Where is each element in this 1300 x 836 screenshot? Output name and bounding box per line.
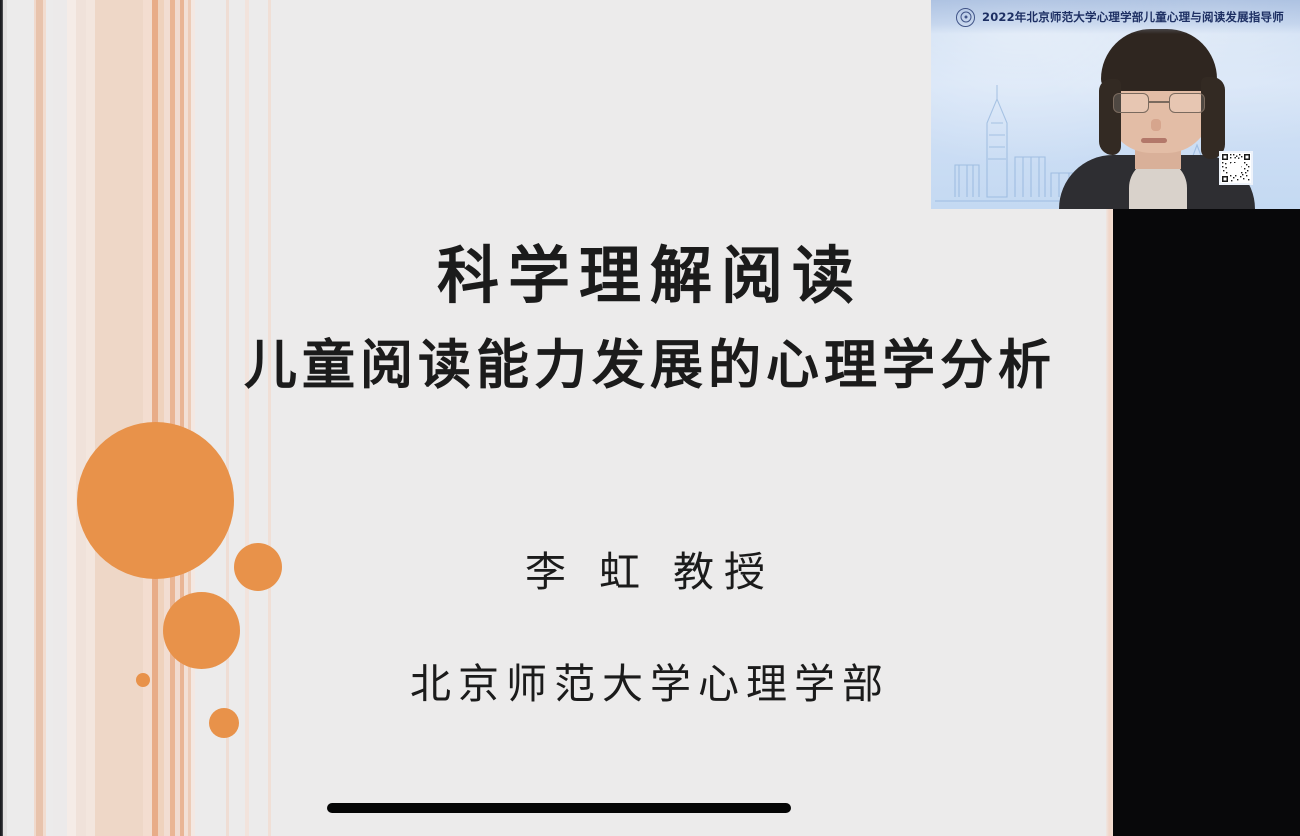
page-title: 科学理解阅读 bbox=[195, 243, 1105, 310]
presenter-video-inset[interactable]: 2022年北京师范大学心理学部儿童心理与阅读发展指导师 bbox=[931, 0, 1300, 209]
circle-small-bottom bbox=[209, 708, 239, 738]
far-stripe-2 bbox=[268, 0, 271, 836]
university-seal-icon bbox=[956, 8, 975, 27]
stripe-0 bbox=[3, 0, 7, 836]
stripe-2 bbox=[36, 0, 43, 836]
slide-bottom-rule bbox=[327, 803, 791, 813]
stripe-4 bbox=[53, 0, 67, 836]
video-banner-label: 2022年北京师范大学心理学部儿童心理与阅读发展指导师 bbox=[982, 9, 1284, 25]
stripe-18 bbox=[191, 0, 195, 836]
video-title-banner: 2022年北京师范大学心理学部儿童心理与阅读发展指导师 bbox=[931, 0, 1300, 34]
stripe-6 bbox=[76, 0, 86, 836]
stripe-3 bbox=[43, 0, 46, 836]
qr-code-icon[interactable] bbox=[1219, 151, 1253, 185]
stripe-8 bbox=[95, 0, 143, 836]
stripe-7 bbox=[86, 0, 95, 836]
stripe-9 bbox=[143, 0, 152, 836]
presenter-figure bbox=[1083, 33, 1231, 209]
stripe-5 bbox=[67, 0, 76, 836]
circle-small-left bbox=[136, 673, 150, 687]
page-subtitle: 儿童阅读能力发展的心理学分析 bbox=[195, 336, 1105, 394]
glasses-icon bbox=[1113, 93, 1205, 113]
speaker-affiliation: 北京师范大学心理学部 bbox=[195, 650, 1105, 710]
screen-recording-frame: 科学理解阅读 儿童阅读能力发展的心理学分析 李 虹 教授 北京师范大学心理学部 bbox=[0, 0, 1300, 836]
far-stripe-1 bbox=[245, 0, 249, 836]
decorative-stripe-band bbox=[3, 0, 195, 836]
speaker-name: 李 虹 教授 bbox=[195, 538, 1105, 598]
